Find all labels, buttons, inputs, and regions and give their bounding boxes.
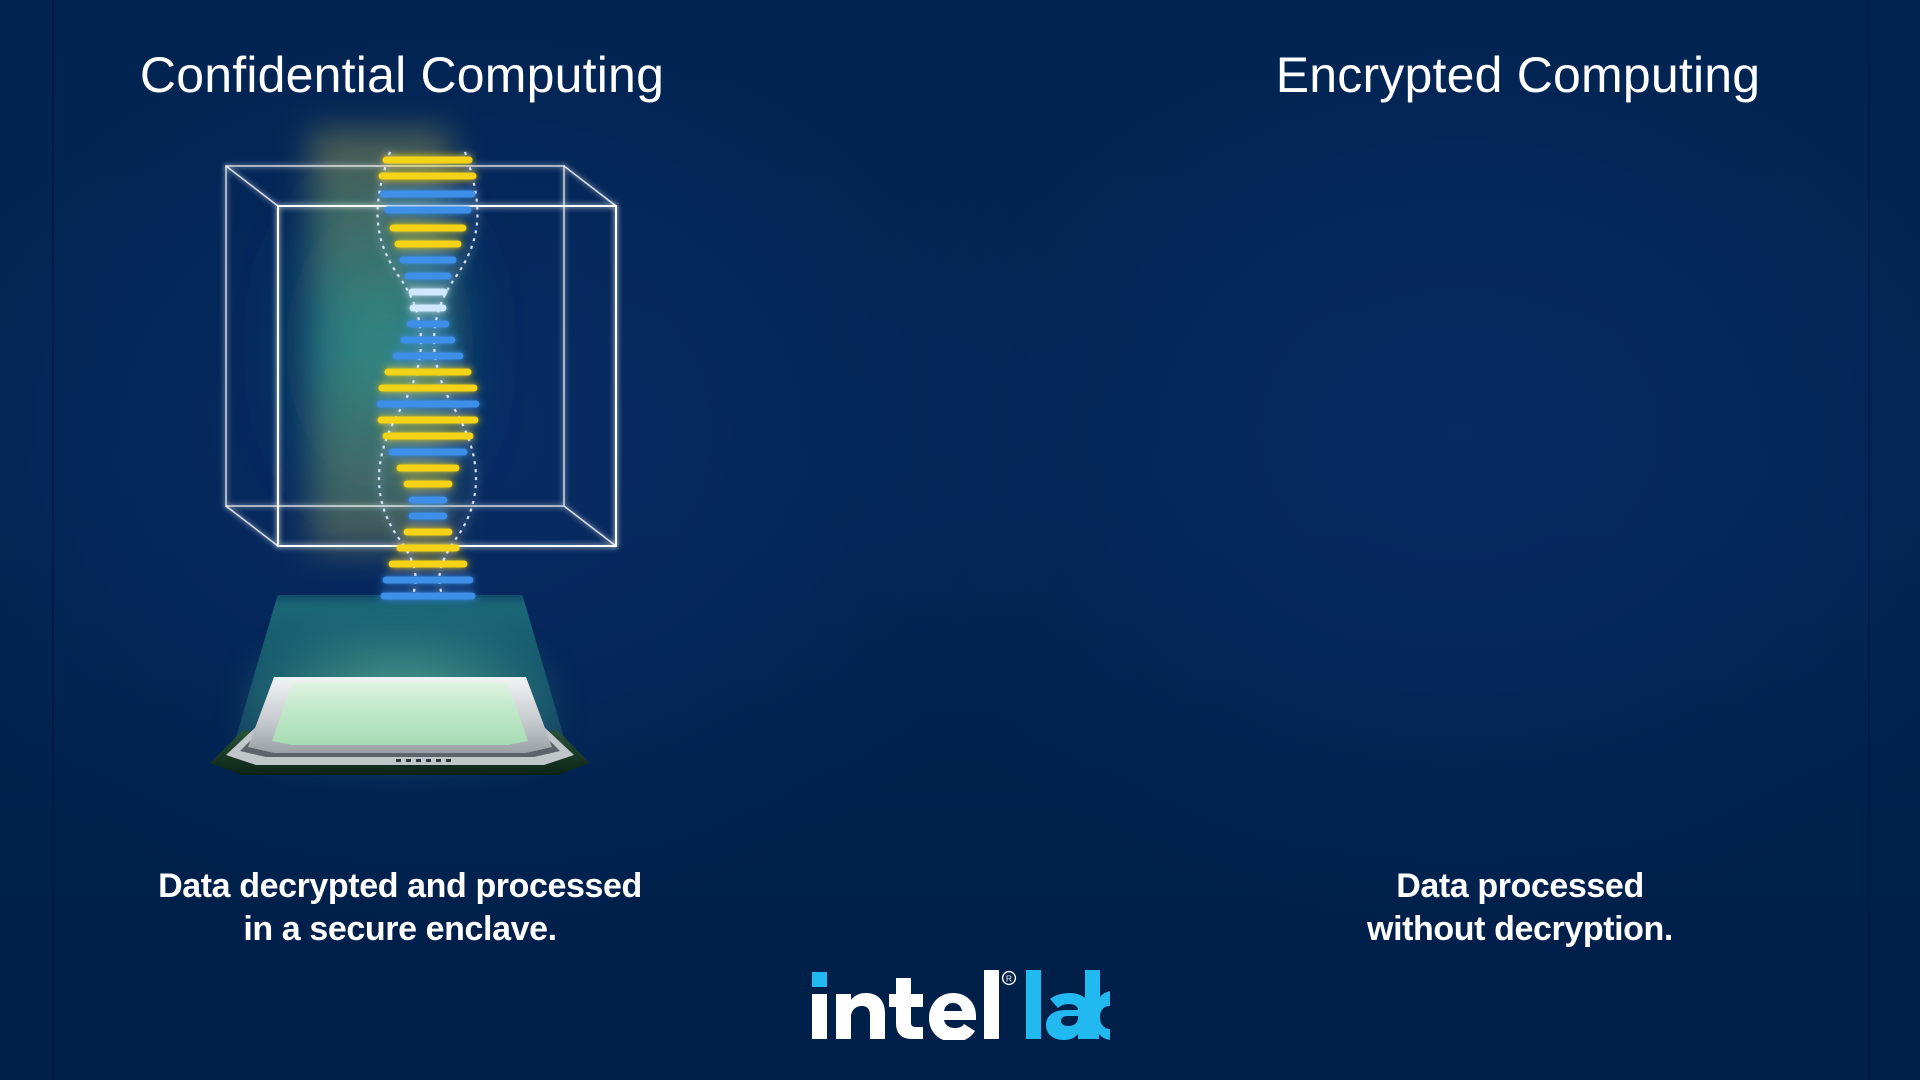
panel-confidential-computing: Confidential Computing <box>0 0 960 1080</box>
intel-word <box>812 970 999 1040</box>
panel-caption-confidential-computing: Data decrypted and processed in a secure… <box>0 865 880 951</box>
labs-word <box>1026 970 1110 1040</box>
panel-caption-encrypted-computing: Data processed without decryption. <box>1040 865 1920 951</box>
caption-line-2: without decryption. <box>1040 908 1920 951</box>
caption-line-1: Data decrypted and processed <box>0 865 880 908</box>
caption-line-1: Data processed <box>1040 865 1920 908</box>
caption-line-2: in a secure enclave. <box>0 908 880 951</box>
cpu-chip-decrypted <box>200 655 600 785</box>
panel-title-confidential-computing: Confidential Computing <box>0 46 882 104</box>
panel-title-encrypted-computing: Encrypted Computing <box>1038 46 1920 104</box>
intel-i-dot-icon <box>812 972 827 987</box>
secure-enclave-cube <box>160 110 640 630</box>
intel-labs-wordmark: R <box>810 966 1110 1040</box>
intel-labs-logo[interactable]: R <box>0 966 1920 1040</box>
cpu-die <box>272 683 528 745</box>
panel-encrypted-computing: Encrypted Computing <box>960 0 1920 1080</box>
svg-text:R: R <box>1006 974 1012 984</box>
registered-trademark-icon: R <box>1003 972 1016 985</box>
